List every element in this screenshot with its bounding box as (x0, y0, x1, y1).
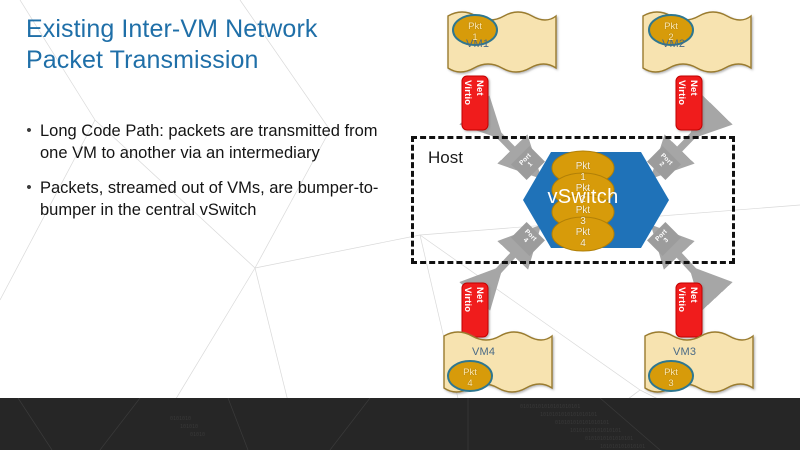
vm3-packet-line2: 3 (668, 378, 673, 389)
switch-packet-1-line1: Pkt (576, 161, 590, 172)
vm3-packet-label: Pkt 3 (651, 368, 691, 389)
vm4-packet-label: Pkt 4 (450, 368, 490, 389)
svg-text:101010: 101010 (180, 424, 198, 430)
vm1-virtio-line2: Net (474, 80, 485, 96)
svg-text:10101010101010101: 10101010101010101 (570, 428, 621, 434)
footer-binary-texture: 01010101010101010101 1010101010101010101… (0, 398, 800, 450)
switch-packet-1-label: Pkt 1 (563, 161, 603, 183)
switch-packet-1-line2: 1 (580, 172, 586, 183)
vm4-packet-line1: Pkt (463, 367, 477, 378)
svg-text:1010101010101010101: 1010101010101010101 (540, 412, 597, 418)
vm3-virtio-line1: Virtio (676, 287, 687, 312)
footer-bar: 01010101010101010101 1010101010101010101… (0, 398, 800, 450)
svg-text:0101010: 0101010 (170, 416, 191, 422)
vm1-packet-line1: Pkt (468, 21, 482, 32)
vm2-packet-label: Pkt 2 (651, 22, 691, 43)
vm2-virtio-line1: Virtio (676, 80, 687, 105)
vm4-packet-line2: 4 (467, 378, 472, 389)
port-2-line2: 2 (658, 161, 666, 169)
host-label: Host (428, 148, 463, 168)
svg-text:01010101010101010101: 01010101010101010101 (520, 404, 580, 410)
vm3-packet-line1: Pkt (664, 367, 678, 378)
svg-text:101010101010101: 101010101010101 (600, 444, 645, 450)
vm1-packet-label: Pkt 1 (455, 22, 495, 43)
vm3-virtio-line2: Net (688, 287, 699, 303)
vm2-virtio-line2: Net (688, 80, 699, 96)
switch-packet-4-line2: 4 (580, 238, 586, 249)
switch-packet-3-line2: 3 (580, 216, 586, 227)
switch-packet-2-label: Pkt 2 (563, 183, 603, 205)
switch-packet-2-line1: Pkt (576, 183, 590, 194)
svg-text:01010: 01010 (190, 432, 205, 438)
svg-text:010101010101010101: 010101010101010101 (555, 420, 609, 426)
vm4-virtio-line2: Net (474, 287, 485, 303)
switch-packet-4-line1: Pkt (576, 227, 590, 238)
vm3-name: VM3 (673, 346, 696, 358)
vm2-packet-line2: 2 (668, 32, 673, 43)
switch-packet-2-line2: 2 (580, 194, 586, 205)
switch-packet-4-label: Pkt 4 (563, 227, 603, 249)
switch-packet-3-label: Pkt 3 (563, 205, 603, 227)
vm1-virtio-line1: Virtio (462, 80, 473, 105)
vm4-name: VM4 (472, 346, 495, 358)
port-4-line2: 4 (522, 237, 530, 245)
vm2-packet-line1: Pkt (664, 21, 678, 32)
slide-canvas: Existing Inter-VM Network Packet Transmi… (0, 0, 800, 450)
switch-packet-3-line1: Pkt (576, 205, 590, 216)
vm4-virtio-line1: Virtio (462, 287, 473, 312)
vm1-packet-line2: 1 (472, 32, 477, 43)
svg-text:0101010101010101: 0101010101010101 (585, 436, 633, 442)
